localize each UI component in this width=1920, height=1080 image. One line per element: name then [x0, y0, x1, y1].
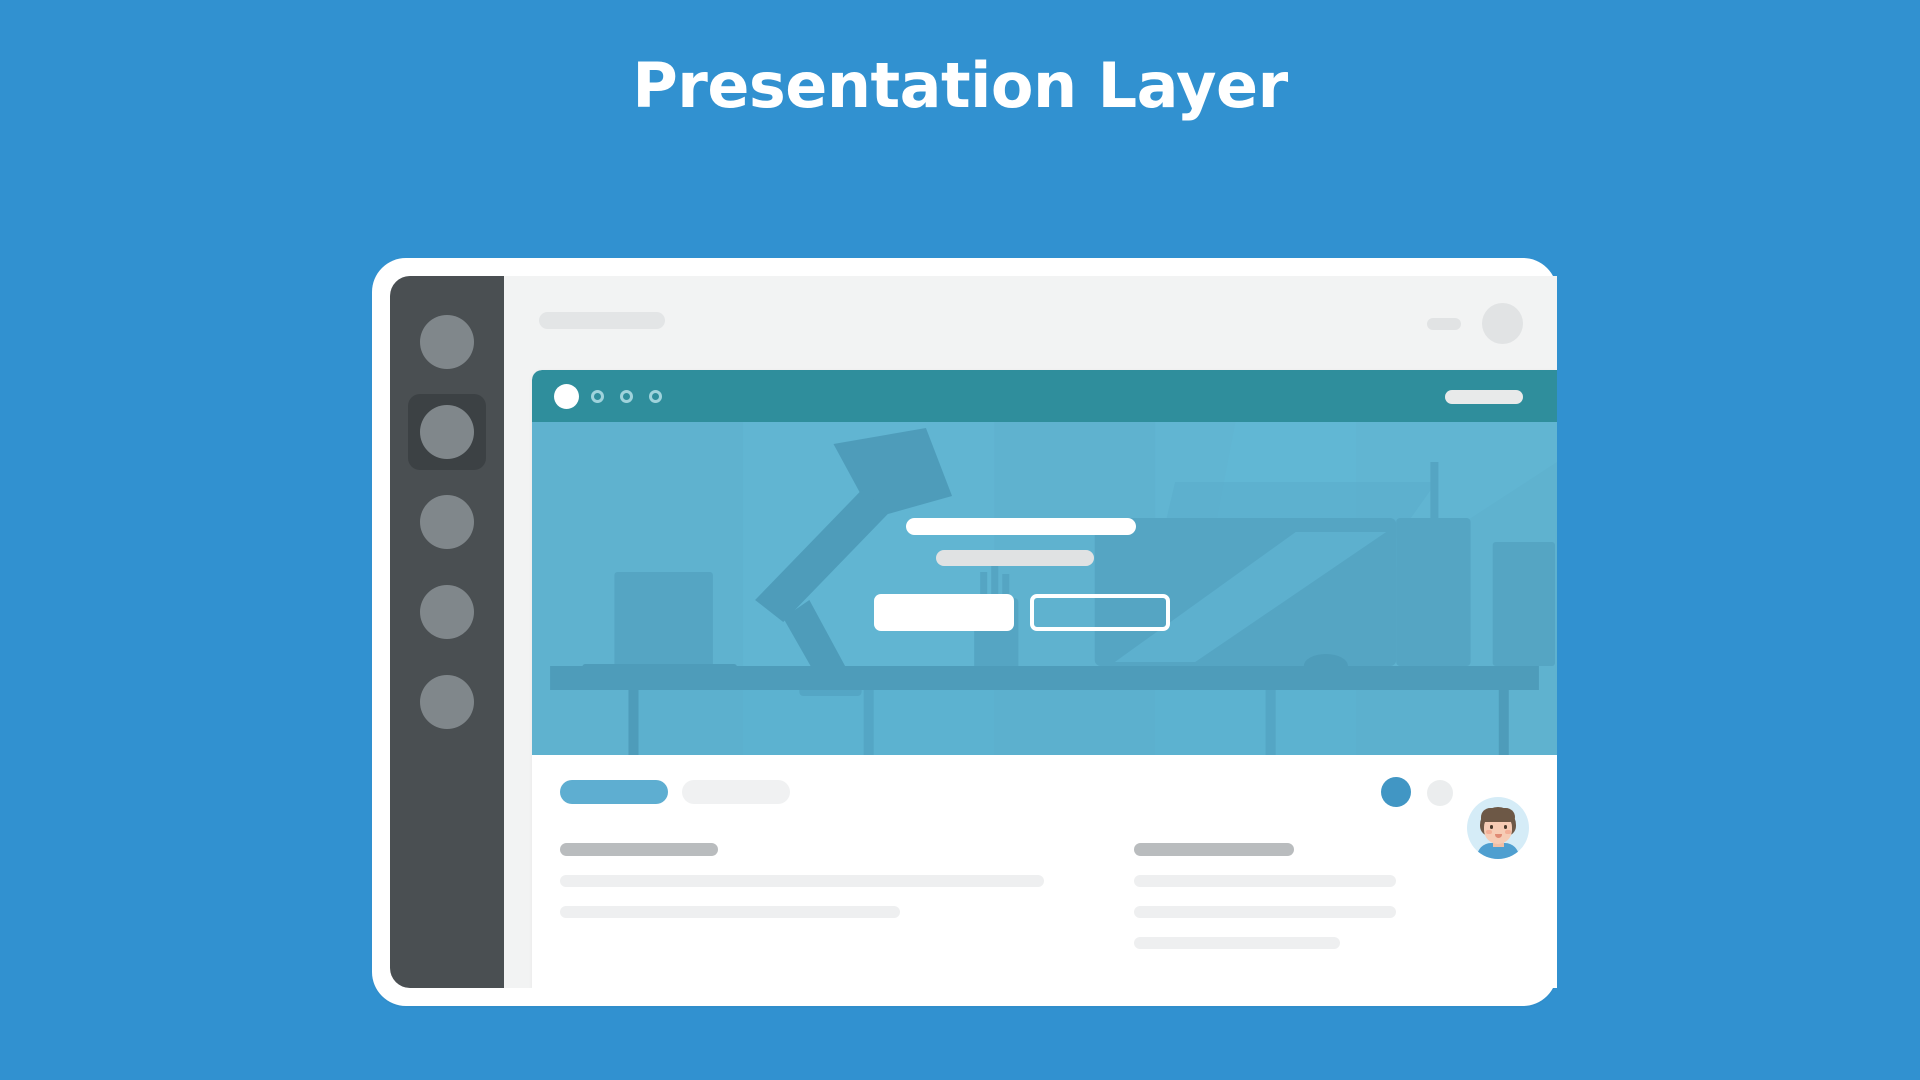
circle-icon: [420, 585, 474, 639]
device-screen: [390, 276, 1557, 988]
sidebar-item-1[interactable]: [390, 298, 504, 386]
pager-dot-2[interactable]: [1427, 780, 1453, 806]
content-right-title-placeholder: [1134, 843, 1294, 856]
hero-headline-placeholder: [906, 518, 1136, 535]
tab-primary[interactable]: [560, 780, 668, 804]
avatar-cheek-right: [1505, 830, 1511, 834]
sidebar-item-4[interactable]: [390, 568, 504, 656]
app-topbar: [504, 276, 1557, 364]
circle-icon: [420, 675, 474, 729]
content-left-line-1: [560, 875, 1044, 887]
hero-primary-button[interactable]: [874, 594, 1014, 631]
circle-icon: [420, 405, 474, 459]
browser-chrome: [532, 370, 1557, 422]
circle-filled-icon[interactable]: [554, 384, 579, 409]
content-right-line-3: [1134, 937, 1340, 949]
circle-outline-icon[interactable]: [649, 390, 662, 403]
app-menu-placeholder[interactable]: [1427, 318, 1461, 330]
page-title: Presentation Layer: [0, 52, 1920, 120]
url-bar-placeholder[interactable]: [1445, 390, 1523, 404]
content-left-line-2: [560, 906, 900, 918]
user-avatar[interactable]: [1467, 797, 1529, 859]
app-stage: [504, 276, 1557, 988]
avatar-eye-right: [1504, 825, 1507, 829]
hero-subheadline-placeholder: [936, 550, 1094, 566]
app-avatar-placeholder[interactable]: [1482, 303, 1523, 344]
sidebar-item-5[interactable]: [390, 658, 504, 746]
circle-icon: [420, 495, 474, 549]
circle-icon: [420, 315, 474, 369]
hero-content: [532, 422, 1557, 755]
sidebar-item-3[interactable]: [390, 478, 504, 566]
tab-secondary[interactable]: [682, 780, 790, 804]
tablet-device: [372, 258, 1557, 1006]
content-column-right: [1134, 843, 1424, 949]
avatar-cheek-left: [1486, 830, 1492, 834]
hero-banner: [532, 422, 1557, 755]
pager-dot-1[interactable]: [1381, 777, 1411, 807]
content-left-title-placeholder: [560, 843, 718, 856]
circle-outline-icon[interactable]: [620, 390, 633, 403]
content-column-left: [560, 843, 1050, 918]
browser-window: [532, 370, 1557, 988]
circle-outline-icon[interactable]: [591, 390, 604, 403]
app-logo-placeholder: [539, 312, 665, 329]
sidebar-item-2[interactable]: [390, 388, 504, 476]
hero-secondary-button[interactable]: [1030, 594, 1170, 631]
avatar-fringe: [1481, 808, 1515, 822]
app-sidebar: [390, 276, 504, 988]
content-right-line-1: [1134, 875, 1396, 887]
content-section: [532, 755, 1557, 971]
content-right-line-2: [1134, 906, 1396, 918]
avatar-eye-left: [1490, 825, 1493, 829]
